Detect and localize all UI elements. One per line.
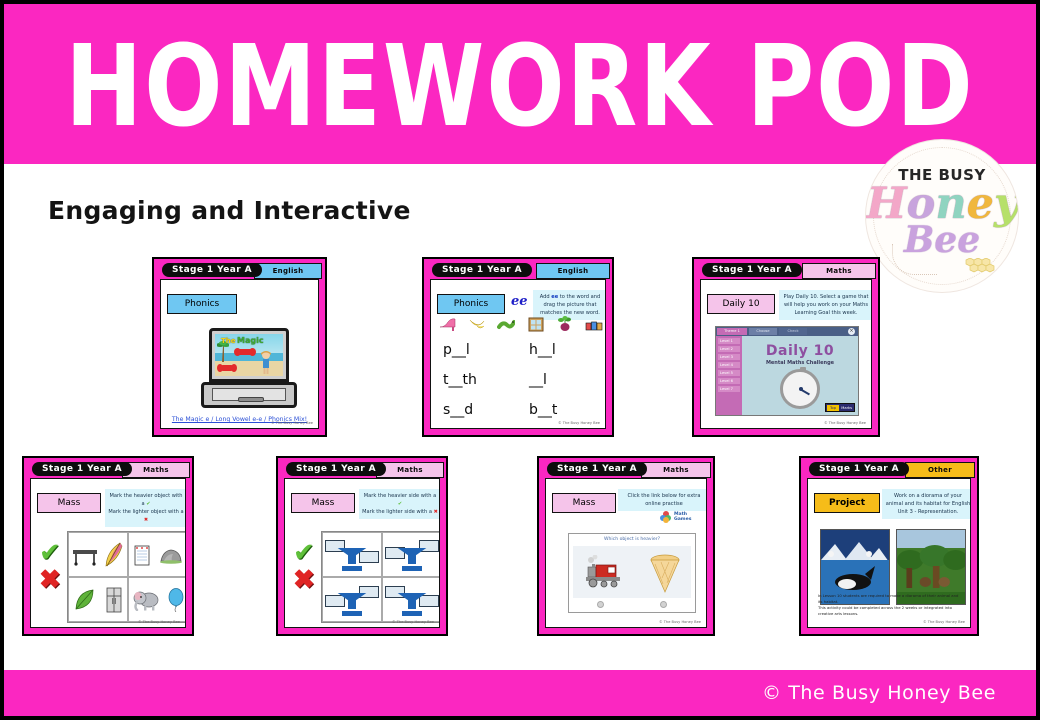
word-blank-4: h__l <box>529 342 556 358</box>
question-options <box>573 546 691 598</box>
topmarks-label: Marks <box>841 405 852 411</box>
project-note-line-1: In Lesson 10 students are required to ma… <box>818 593 960 605</box>
pair-cell[interactable] <box>128 577 186 622</box>
balloon-icon <box>168 588 184 612</box>
scale-post <box>408 555 416 564</box>
card-copyright: © The Busy Honey Bee <box>659 620 701 624</box>
subject-tab-maths[interactable]: Maths <box>802 263 876 279</box>
card-copyright: © The Busy Honey Bee <box>138 620 180 624</box>
instruction-pre: Add <box>540 294 551 300</box>
rock-icon <box>159 546 183 564</box>
heel-shoe-icon <box>439 316 457 332</box>
radio-option-cone[interactable] <box>660 601 667 608</box>
close-icon[interactable]: × <box>848 328 855 335</box>
footer-copyright: © The Busy Honey Bee <box>762 682 996 704</box>
scale-post <box>348 600 356 609</box>
stage-label: Stage 1 Year A <box>547 462 647 476</box>
level-item[interactable]: Level 2 <box>718 346 740 352</box>
scale-tray-right <box>359 551 379 563</box>
stopwatch-icon <box>780 369 820 409</box>
card-copyright: © The Busy Honey Bee <box>558 421 600 425</box>
cross-icon: ✖ <box>293 565 319 593</box>
card-body: Daily 10 Play Daily 10. Select a game th… <box>700 279 872 429</box>
stopwatch-pivot <box>799 387 803 391</box>
answer-radio-group <box>569 601 695 608</box>
topmarks-badge: Top <box>827 405 839 411</box>
beet-icon <box>556 316 574 332</box>
level-item[interactable]: Level 4 <box>718 362 740 368</box>
table-icon <box>72 544 98 566</box>
books-icon <box>585 316 603 332</box>
card-copyright: © The Busy Honey Bee <box>392 620 434 624</box>
mathgames-label: Math Games <box>674 512 706 522</box>
card-mass-scales[interactable]: Stage 1 Year A Maths Mass Mark the heavi… <box>276 456 448 636</box>
banana-peel-icon <box>468 316 486 332</box>
subject-tab-maths[interactable]: Maths <box>122 462 190 478</box>
window-icon <box>527 316 545 332</box>
brand-logo: THE BUSY Honey Bee <box>866 140 1018 292</box>
topic-chip-mass: Mass <box>552 493 616 513</box>
notepad-icon <box>134 544 150 566</box>
feather-icon <box>104 542 124 568</box>
app-subtitle: Mental Maths Challenge <box>742 360 858 366</box>
stage-label: Stage 1 Year A <box>702 263 802 277</box>
balance-scale-icon <box>327 539 377 571</box>
balance-scale-icon <box>387 584 437 616</box>
stage-label: Stage 1 Year A <box>286 462 386 476</box>
picture-row <box>439 316 603 332</box>
tick-inline-icon: ✔ <box>398 501 402 507</box>
bone-shape-top <box>237 349 253 355</box>
instruction-box: Mark the heavier side with a ✔ Mark the … <box>359 489 440 519</box>
topic-chip-project: Project <box>814 493 880 513</box>
scale-cell[interactable] <box>382 577 440 622</box>
laptop-trackpad <box>238 397 264 402</box>
level-item[interactable]: Level 1 <box>718 338 740 344</box>
card-body: Mass Mark the heavier object with a ✔ Ma… <box>30 478 186 628</box>
word-blank-3: s__d <box>443 402 473 418</box>
card-copyright: © The Busy Honey Bee <box>271 421 313 425</box>
subtitle-text: Engaging and Interactive <box>48 196 411 225</box>
laptop-screen: The Magic <box>209 328 289 382</box>
subject-tab-maths[interactable]: Maths <box>641 462 711 478</box>
instruction-box: Mark the heavier object with a ✔ Mark th… <box>105 489 186 527</box>
footer-banner: © The Busy Honey Bee <box>4 670 1036 716</box>
card-phonics-ee[interactable]: Stage 1 Year A English Phonics ee Add ee… <box>422 257 614 437</box>
subject-tab-english[interactable]: English <box>254 263 322 279</box>
card-daily-10[interactable]: Stage 1 Year A Maths Daily 10 Play Daily… <box>692 257 880 437</box>
laptop-screen-content: The Magic <box>215 334 283 376</box>
marker-legend: ✔ ✖ <box>293 539 319 593</box>
topic-chip-phonics: Phonics <box>437 294 505 314</box>
tick-inline-icon: ✔ <box>146 501 150 507</box>
card-body: Project Work on a diorama of your animal… <box>807 478 971 628</box>
laptop-base <box>201 382 297 408</box>
slide-page: HOMEWORK POD Engaging and Interactive TH… <box>4 4 1036 716</box>
topic-chip-mass: Mass <box>37 493 101 513</box>
daily10-app-window[interactable]: Theme 1 Choose Check × Level 1 Level 2 L… <box>715 326 859 416</box>
leaf-icon <box>74 588 96 612</box>
pair-cell[interactable] <box>128 532 186 577</box>
cross-inline-icon: ✖ <box>144 517 148 523</box>
word-blank-6: b__t <box>529 402 557 418</box>
marker-legend: ✔ ✖ <box>39 539 65 593</box>
worm-icon <box>497 316 515 332</box>
card-project-diorama[interactable]: Stage 1 Year A Other Project Work on a d… <box>799 456 979 636</box>
scale-cell[interactable] <box>322 532 382 577</box>
card-body: Phonics ee Add ee to the word and drag t… <box>430 279 606 429</box>
level-item[interactable]: Level 5 <box>718 370 740 376</box>
card-body: Mass Mark the heavier side with a ✔ Mark… <box>284 478 440 628</box>
topmarks-button[interactable]: Top Marks <box>825 403 855 412</box>
card-body: Phonics <box>160 279 319 429</box>
level-item[interactable]: Level 7 <box>718 386 740 392</box>
instruction-line-2: Mark the lighter object with a <box>108 509 183 515</box>
subject-tab-maths[interactable]: Maths <box>376 462 444 478</box>
tick-icon: ✔ <box>39 539 65 565</box>
stage-label: Stage 1 Year A <box>162 263 262 277</box>
cross-inline-icon: ✖ <box>434 509 438 515</box>
app-title: Daily 10 <box>742 343 858 359</box>
subject-tab-other[interactable]: Other <box>905 462 975 478</box>
card-mass-objects[interactable]: Stage 1 Year A Maths Mass Mark the heavi… <box>22 456 194 636</box>
instruction-box: Work on a diorama of your animal and its… <box>882 489 971 519</box>
app-tab-choose[interactable]: Choose <box>749 328 777 335</box>
topic-chip-phonics: Phonics <box>167 294 237 314</box>
level-item[interactable]: Level 6 <box>718 378 740 384</box>
elephant-icon <box>133 589 161 611</box>
header-banner: HOMEWORK POD <box>4 4 1036 164</box>
pair-cell[interactable] <box>68 577 128 622</box>
logo-bee-text: Bee <box>866 220 1018 260</box>
screen-title-magic: Magic <box>237 336 264 345</box>
app-tab-theme[interactable]: Theme 1 <box>717 328 747 335</box>
scale-base <box>342 566 362 571</box>
word-blank-5: __l <box>529 372 547 388</box>
card-body: Mass Click the link below for extra onli… <box>545 478 707 628</box>
scale-cell[interactable] <box>322 577 382 622</box>
question-text: Which object is heavier? <box>569 537 695 542</box>
topic-chip-mass: Mass <box>291 493 355 513</box>
instruction-box: Play Daily 10. Select a game that will h… <box>779 290 872 320</box>
fridge-icon <box>105 587 123 613</box>
instruction-line-2: Mark the lighter side with a <box>362 509 432 515</box>
radio-option-train[interactable] <box>597 601 604 608</box>
object-pairs-grid <box>67 531 186 623</box>
scale-post <box>408 600 416 609</box>
stopwatch-crown <box>800 367 806 372</box>
page-title: HOMEWORK POD <box>4 26 1036 148</box>
topic-chip-daily10: Daily 10 <box>707 294 775 314</box>
scale-tray-left <box>325 595 345 607</box>
word-blank-1: p__l <box>443 342 470 358</box>
word-blank-2: t__th <box>443 372 477 388</box>
scale-tray-right <box>419 595 439 607</box>
mathgames-question-panel: Which object is heavier? <box>568 533 696 613</box>
balance-scale-icon <box>327 584 377 616</box>
honeycomb-icon <box>962 258 1002 276</box>
pair-cell[interactable] <box>68 532 128 577</box>
child-character-icon <box>259 350 273 374</box>
mathgames-flower-icon <box>660 511 671 522</box>
card-mass-online[interactable]: Stage 1 Year A Maths Mass Click the link… <box>537 456 715 636</box>
subject-tab-english[interactable]: English <box>536 263 610 279</box>
instruction-box: Click the link below for extra online pr… <box>618 489 707 511</box>
card-copyright: © The Busy Honey Bee <box>824 421 866 425</box>
card-phonics-magic-e[interactable]: Stage 1 Year A English Phonics <box>152 257 327 437</box>
scale-base <box>342 611 362 616</box>
bone-shape-bottom <box>220 365 234 371</box>
project-note-line-2: This activity could be completed across … <box>818 605 960 617</box>
ice-cream-cone-icon <box>649 550 681 594</box>
stage-label: Stage 1 Year A <box>32 462 132 476</box>
scale-base <box>402 566 422 571</box>
card-copyright: © The Busy Honey Bee <box>923 620 965 624</box>
level-item[interactable]: Level 3 <box>718 354 740 360</box>
tick-icon: ✔ <box>293 539 319 565</box>
project-note: In Lesson 10 students are required to ma… <box>818 593 960 617</box>
stage-label: Stage 1 Year A <box>432 263 532 277</box>
cross-icon: ✖ <box>39 565 65 593</box>
screen-title-the: The <box>221 337 236 345</box>
laptop-illustration: The Magic <box>201 328 297 410</box>
scale-base <box>402 611 422 616</box>
train-icon <box>584 555 628 589</box>
stage-label: Stage 1 Year A <box>809 462 909 476</box>
app-tab-check[interactable]: Check <box>779 328 807 335</box>
level-sidebar: Level 1 Level 2 Level 3 Level 4 Level 5 … <box>716 336 742 415</box>
balance-scales-grid <box>321 531 440 623</box>
balance-scale-icon <box>387 539 437 571</box>
scale-post <box>348 555 356 564</box>
sound-label-ee: ee <box>511 294 528 309</box>
mathgames-logo[interactable]: Math Games <box>660 511 706 522</box>
scale-cell[interactable] <box>382 532 440 577</box>
instruction-line-1: Mark the heavier side with a <box>364 493 437 499</box>
